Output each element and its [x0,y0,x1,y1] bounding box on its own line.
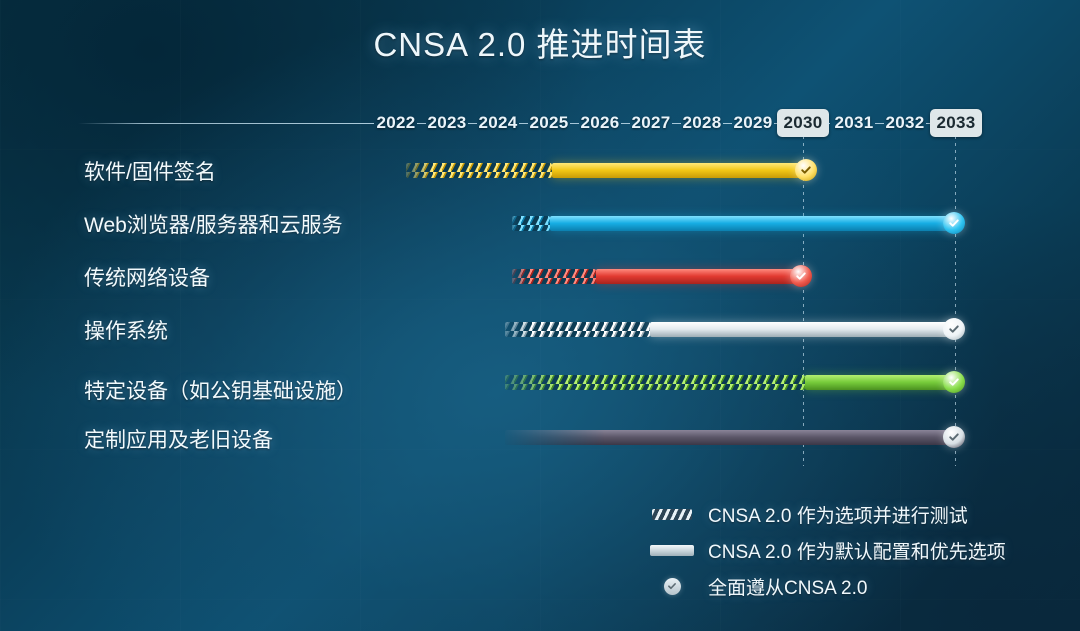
bar-testing-segment-1 [512,216,550,231]
year-label-2033: 2033 [930,109,982,137]
bar-default-segment-1 [550,216,958,231]
bar-default-segment-3 [650,322,958,337]
legend-label-0: CNSA 2.0 作为选项并进行测试 [708,501,968,528]
year-label-2025: 2025 [526,110,572,136]
timeline-bar-3 [0,322,1080,337]
page-title: CNSA 2.0 推进时间表 [0,18,1080,66]
compliance-check-icon-1 [943,212,965,234]
year-label-2022: 2022 [373,110,419,136]
timeline-bar-5 [0,430,1080,445]
bar-testing-segment-2 [512,269,596,284]
bar-default-segment-4 [805,375,958,390]
year-label-2032: 2032 [882,110,928,136]
solid-swatch-shape [650,545,694,556]
year-label-2023: 2023 [424,110,470,136]
year-label-2028: 2028 [679,110,725,136]
compliance-check-icon-4 [943,371,965,393]
hatch-swatch-shape [652,509,692,520]
legend-label-2: 全面遵从CNSA 2.0 [708,573,867,600]
compliance-check-icon-5 [943,426,965,448]
year-label-2024: 2024 [475,110,521,136]
guide-line-2030 [803,136,804,466]
bar-testing-segment-4 [505,375,805,390]
timeline-bar-2 [0,269,1080,284]
compliance-check-icon-3 [943,318,965,340]
timeline-bar-0 [0,163,1080,178]
timeline-bar-4 [0,375,1080,390]
year-label-2029: 2029 [730,110,776,136]
solid-bar-icon [648,545,696,556]
timeline-infographic: CNSA 2.0 推进时间表 2022202320242025202620272… [0,0,1080,631]
compliance-check-icon-2 [790,265,812,287]
year-label-2027: 2027 [628,110,674,136]
bar-testing-segment-0 [406,163,552,178]
legend-item-2: 全面遵从CNSA 2.0 [648,568,1068,604]
year-label-2030: 2030 [777,109,829,137]
legend-item-0: CNSA 2.0 作为选项并进行测试 [648,496,1068,532]
legend: CNSA 2.0 作为选项并进行测试CNSA 2.0 作为默认配置和优先选项全面… [648,496,1068,604]
bar-testing-segment-3 [505,322,650,337]
legend-item-1: CNSA 2.0 作为默认配置和优先选项 [648,532,1068,568]
year-label-2026: 2026 [577,110,623,136]
check-circle-icon [648,578,696,595]
guide-line-2033 [955,136,956,466]
check-swatch-shape [664,578,681,595]
bar-default-segment-2 [596,269,805,284]
axis-baseline [78,123,374,124]
compliance-check-icon-0 [795,159,817,181]
bar-default-segment-5 [505,430,958,445]
year-label-2031: 2031 [831,110,877,136]
legend-label-1: CNSA 2.0 作为默认配置和优先选项 [708,537,1006,564]
hatched-bar-icon [648,509,696,520]
bar-default-segment-0 [552,163,810,178]
timeline-bar-1 [0,216,1080,231]
axis-tick-2030 [827,123,830,124]
